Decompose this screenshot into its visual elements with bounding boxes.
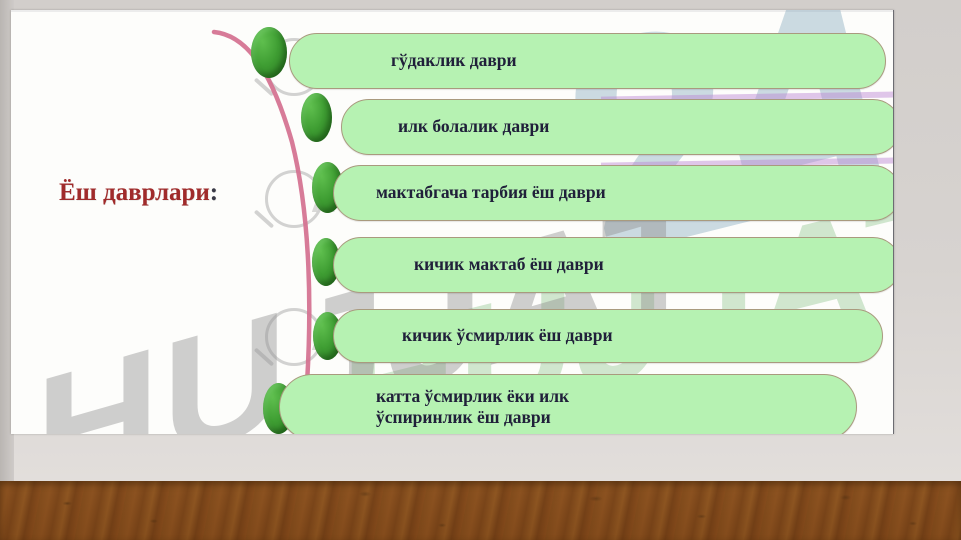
bush-marker-1 — [251, 27, 287, 78]
stage-pill-2[interactable]: илк болалик даври — [341, 99, 894, 155]
page-title-text: Ёш даврлари — [59, 179, 210, 206]
stage-pill-1[interactable]: гўдаклик даври — [289, 33, 886, 89]
stage-pill-5[interactable]: кичик ўсмирлик ёш даври — [333, 309, 883, 363]
floor-wood-knots — [0, 481, 961, 540]
stage-pill-6[interactable]: катта ўсмирлик ёки илк ўспиринлик ёш дав… — [279, 374, 857, 434]
page-title-colon: : — [210, 179, 218, 206]
stage-pill-label: кичик мактаб ёш даври — [414, 254, 604, 275]
page-title: Ёш даврлари: — [59, 179, 218, 207]
wooden-floor — [0, 481, 961, 540]
presentation-screenshot: 24 HUJJAT HUJJAT ARXIV.UZ ARXIV.UZ ARXIV… — [0, 0, 961, 540]
stage-pill-label: катта ўсмирлик ёки илк ўспиринлик ёш дав… — [376, 386, 569, 429]
stage-pill-4[interactable]: кичик мактаб ёш даври — [333, 237, 894, 293]
stage-pill-label: илк болалик даври — [398, 116, 549, 137]
projected-slide: 24 HUJJAT HUJJAT ARXIV.UZ ARXIV.UZ ARXIV… — [11, 10, 894, 434]
stage-pill-3[interactable]: мактабгача тарбия ёш даври — [333, 165, 894, 221]
stage-pill-label: мактабгача тарбия ёш даври — [376, 182, 606, 203]
stage-pill-label: гўдаклик даври — [391, 50, 517, 71]
stage-pill-label: кичик ўсмирлик ёш даври — [402, 325, 613, 346]
bush-marker-2 — [301, 93, 332, 142]
